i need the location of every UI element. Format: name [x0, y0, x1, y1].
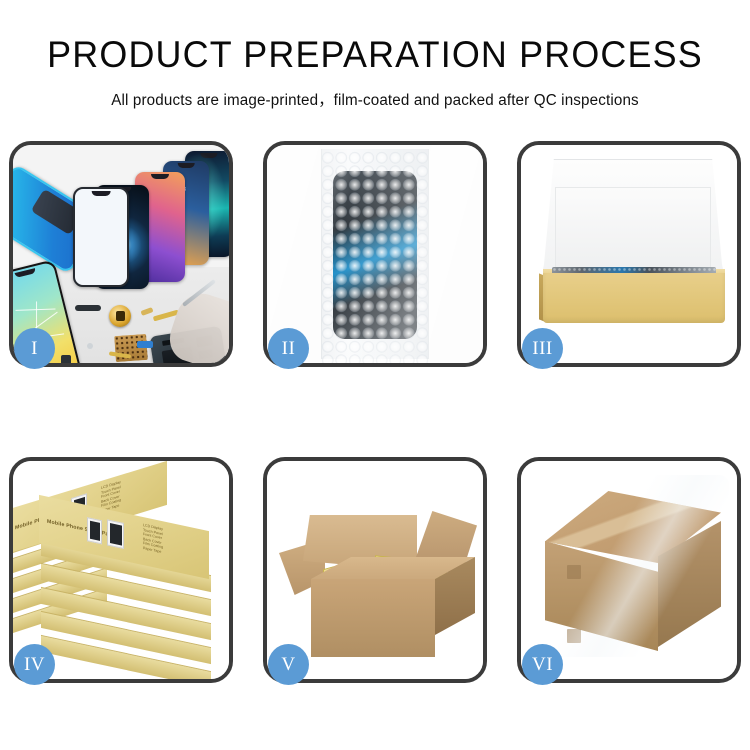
process-steps-grid: 08:08 [9, 141, 741, 687]
step-panel-4: Mobile Phone Spare Parts LCD Display Tou… [9, 457, 233, 683]
connector-grid-icon [114, 334, 148, 362]
page-subtitle: All products are image-printed，film-coat… [8, 88, 743, 110]
step-badge-1: I [14, 328, 55, 369]
page-title: PRODUCT PREPARATION PROCESS [11, 36, 739, 73]
carton-seal-patch [567, 629, 581, 643]
step-badge-4: IV [14, 644, 55, 685]
step-badge-6: VI [522, 644, 563, 685]
step-panel-3: III [517, 141, 741, 367]
screw-part-icon [87, 343, 93, 349]
product-preparation-infographic: PRODUCT PREPARATION PROCESS All products… [0, 0, 750, 750]
vibration-coil-icon [109, 305, 131, 327]
earpiece-part-icon [61, 355, 71, 363]
step-panel-1: 08:08 [9, 141, 233, 367]
header: PRODUCT PREPARATION PROCESS All products… [0, 0, 750, 110]
sensor-part-icon [137, 341, 153, 348]
step-badge-5: V [268, 644, 309, 685]
retail-box-checklist: LCD Display Touch Panel Front Cover Back… [143, 523, 163, 555]
box-lid-face [555, 187, 711, 275]
step-panel-5: V [263, 457, 487, 683]
box-thumbnail-icon [107, 519, 124, 549]
box-thumbnail-icon [87, 517, 102, 544]
carton-seal-patch [567, 565, 581, 579]
speaker-mesh-icon [75, 305, 101, 311]
step-panel-2: II [263, 141, 487, 367]
kraft-tray-icon [543, 273, 725, 323]
step-badge-3: III [522, 328, 563, 369]
glass-protector-icon [73, 187, 129, 287]
step-badge-2: II [268, 328, 309, 369]
carton-front-face [311, 579, 435, 657]
step-panel-6: VI [517, 457, 741, 683]
